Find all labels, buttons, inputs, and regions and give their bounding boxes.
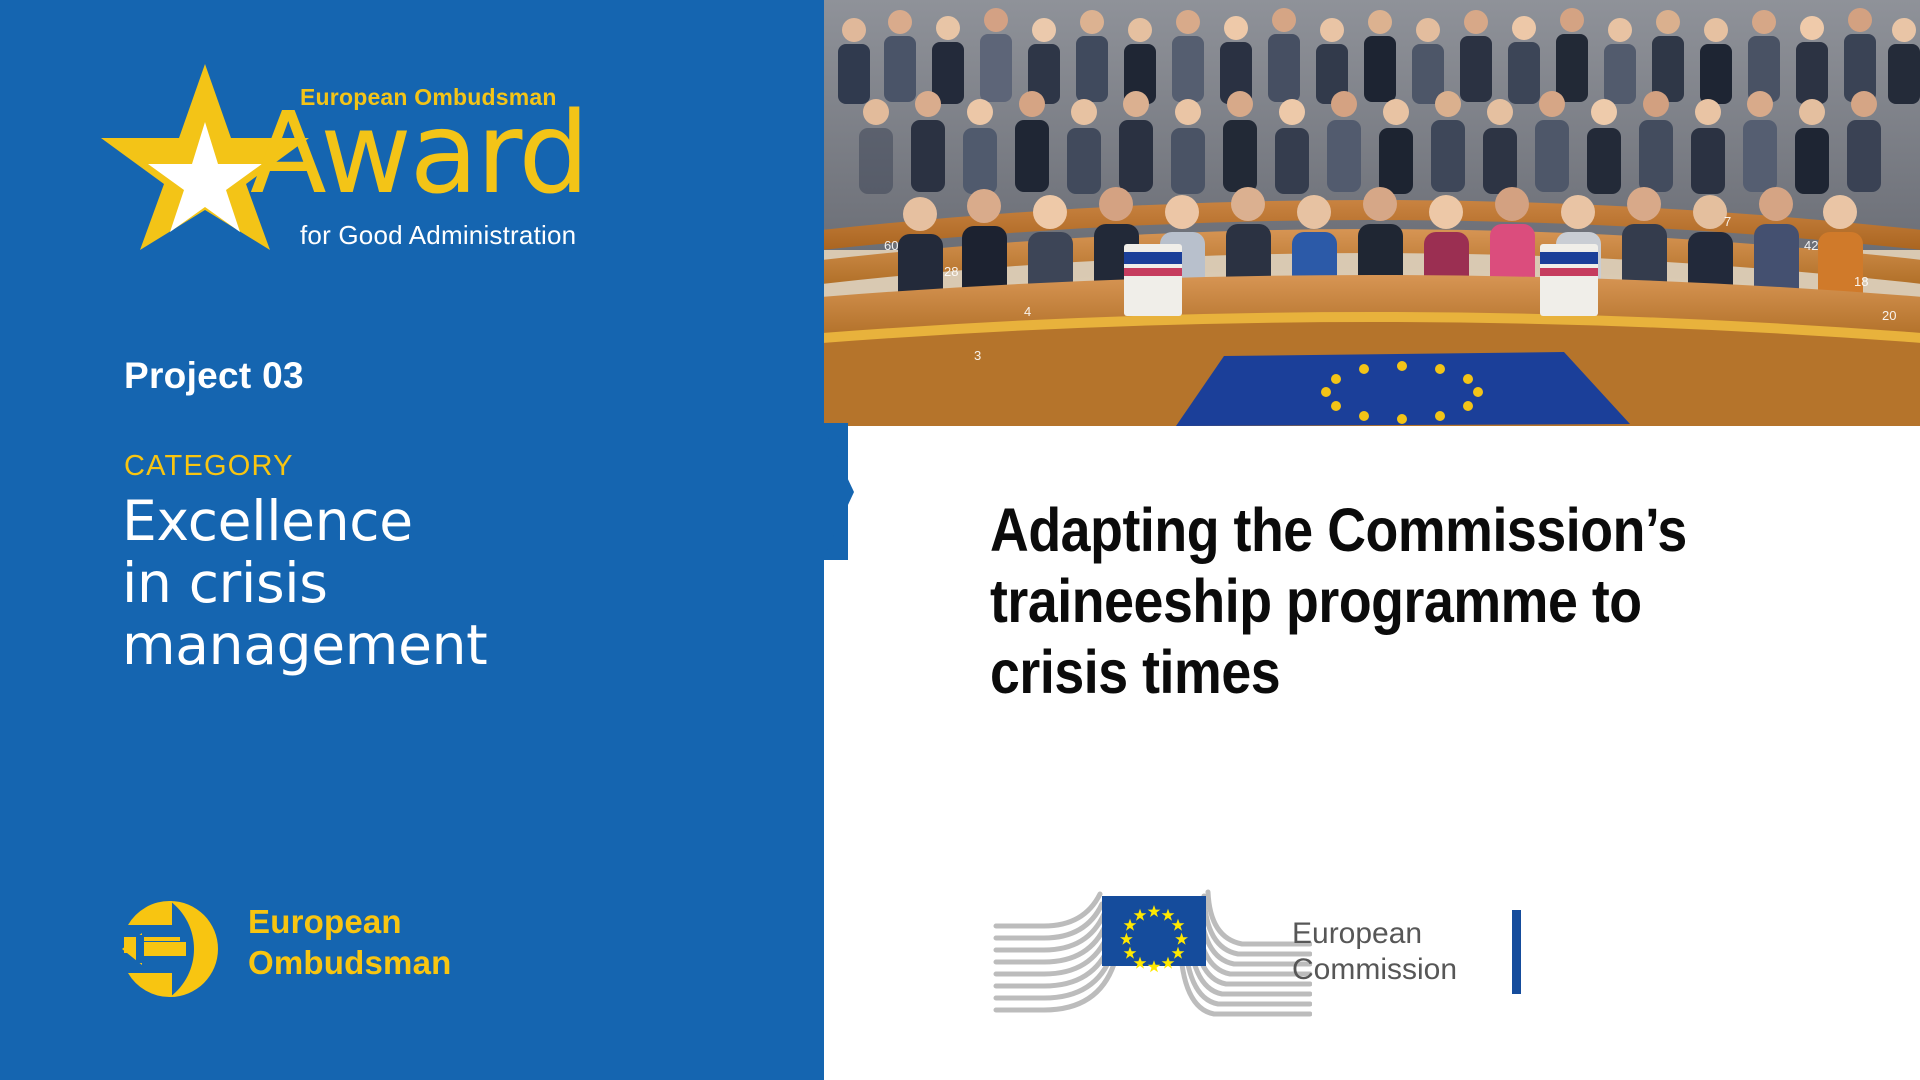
hemicycle-group-photo: 60284 34218 207 — [824, 0, 1920, 426]
award-card: 60284 34218 207 European Ombudsman — [0, 0, 1920, 1080]
european-commission-wordmark: European Commission — [1292, 916, 1457, 988]
category-title-line-1: Excellence — [122, 490, 682, 552]
svg-text:20: 20 — [1882, 308, 1896, 323]
photo-illustration: 60284 34218 207 — [824, 0, 1920, 426]
svg-text:3: 3 — [974, 348, 981, 363]
eo-wordmark-line-1: European — [248, 901, 452, 942]
project-label: Project 03 — [124, 355, 304, 397]
svg-text:42: 42 — [1804, 238, 1818, 253]
european-ombudsman-wordmark: European Ombudsman — [248, 901, 452, 983]
svg-text:18: 18 — [1854, 274, 1868, 289]
page-title-line-1: Adapting the Commission’s — [990, 495, 1756, 566]
category-title-line-3: management — [122, 614, 682, 676]
ec-wordmark-line-2: Commission — [1292, 952, 1457, 988]
eu-flag-on-floor — [1176, 352, 1630, 426]
eo-wordmark-line-2: Ombudsman — [248, 942, 452, 983]
page-title-line-2: traineeship programme to — [990, 566, 1756, 637]
award-logo-tagline: for Good Administration — [300, 220, 576, 251]
svg-text:28: 28 — [944, 264, 958, 279]
european-ombudsman-emblem — [120, 899, 220, 999]
svg-text:60: 60 — [884, 238, 898, 253]
ec-wordmark-line-1: European — [1292, 916, 1457, 952]
ec-logo-rule — [1512, 910, 1521, 994]
award-logo-wordmark: Award — [250, 98, 587, 210]
eu-flag-icon — [992, 880, 1312, 1020]
page-title: Adapting the Commission’s traineeship pr… — [990, 495, 1756, 708]
category-title-line-2: in crisis — [122, 552, 682, 614]
category-eyebrow: CATEGORY — [124, 450, 294, 483]
svg-text:7: 7 — [1724, 214, 1731, 229]
european-ombudsman-logo: European Ombudsman — [120, 895, 550, 1005]
category-title: Excellence in crisis management — [122, 490, 682, 676]
award-logo: European Ombudsman Award for Good Admini… — [100, 60, 680, 250]
page-title-line-3: crisis times — [990, 637, 1756, 708]
european-commission-logo: European Commission — [992, 880, 1522, 1025]
svg-text:4: 4 — [1024, 304, 1031, 319]
panel-arrow-notch — [820, 420, 860, 565]
